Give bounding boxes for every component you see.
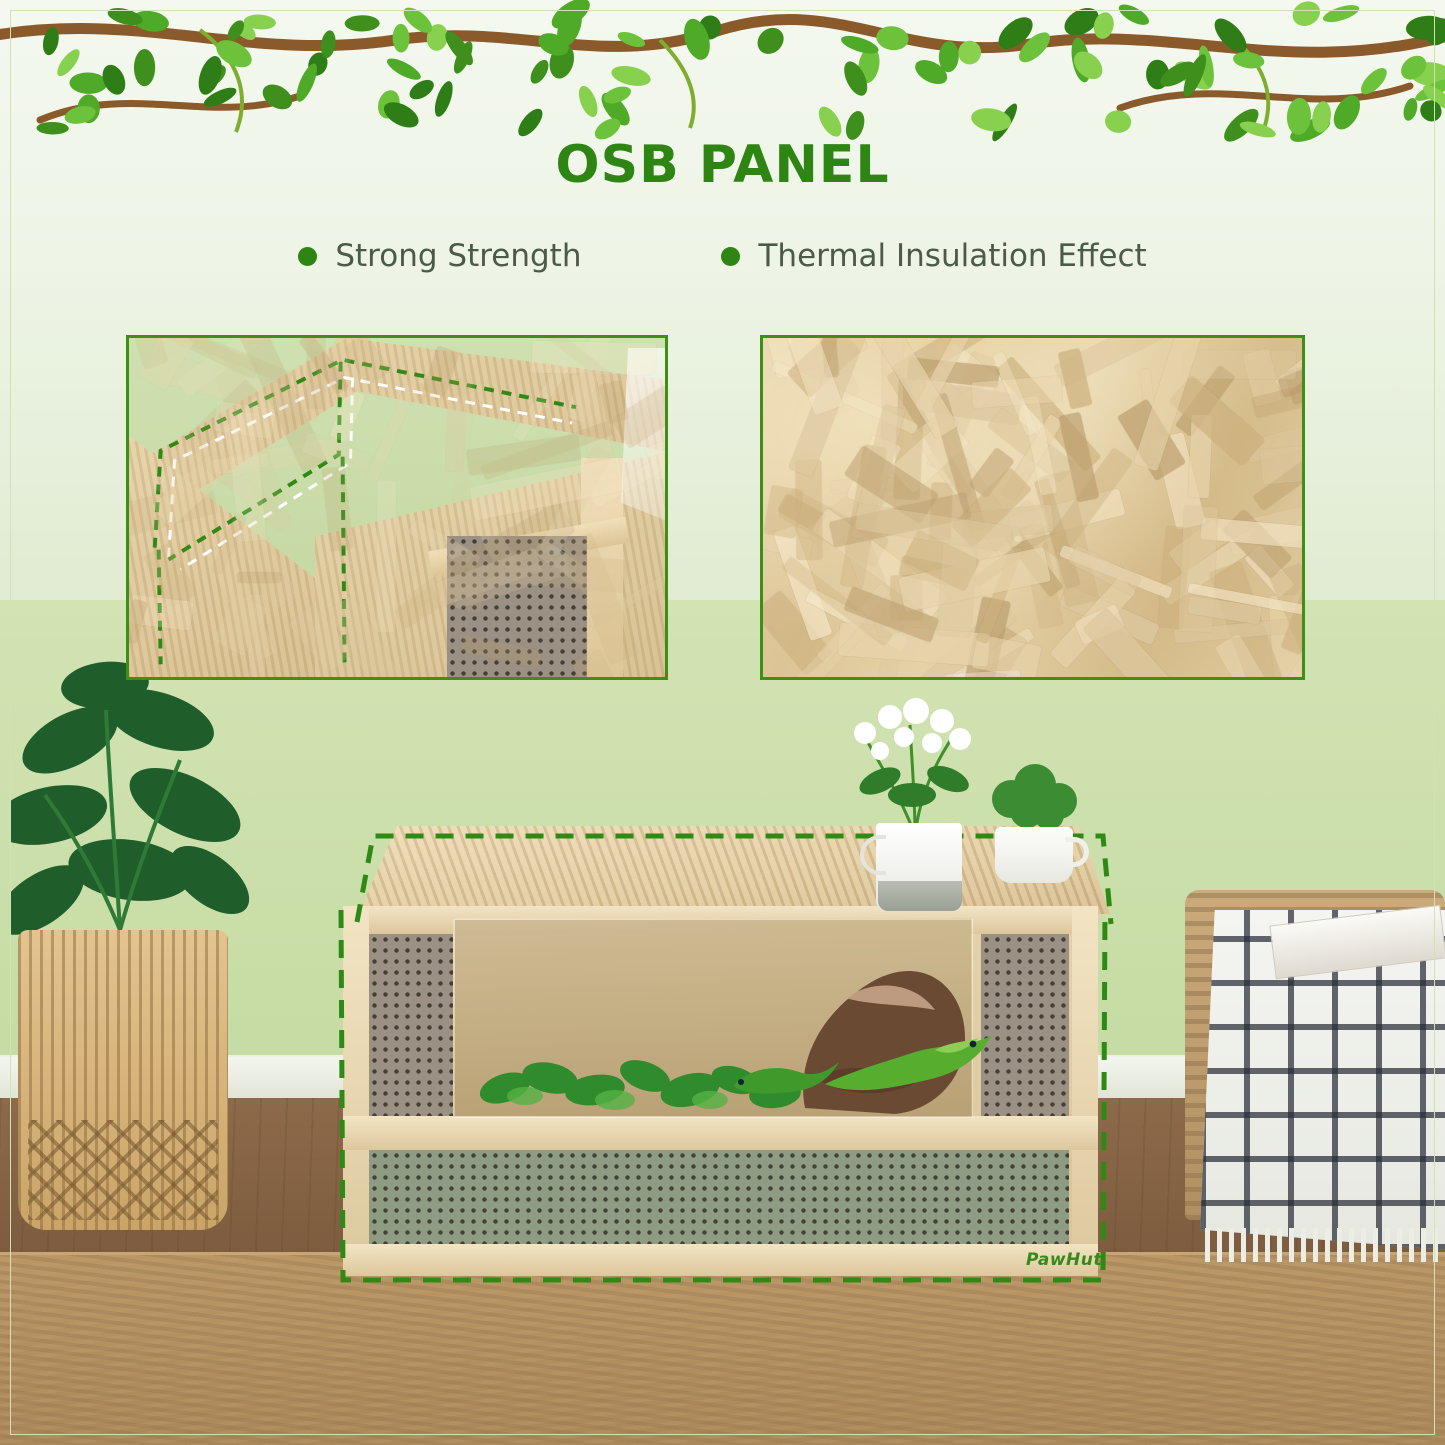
osb-chip-texture: [763, 338, 1302, 677]
leaf-icon: [843, 109, 868, 142]
leaf-icon: [406, 76, 437, 103]
feature-item-insulation: Thermal Insulation Effect: [721, 238, 1146, 274]
bullet-dot-icon: [721, 247, 740, 266]
leaf-icon: [1288, 0, 1324, 31]
vine-decoration: [0, 0, 1445, 180]
detail-photo-osb-texture: [760, 335, 1305, 680]
osb-chip: [937, 537, 978, 638]
osb-chip: [1184, 350, 1296, 380]
leaf-icon: [1116, 0, 1152, 28]
small-green-plant-pot: [975, 755, 1095, 865]
product-infographic: OSB PANEL Strong Strength Thermal Insula…: [0, 0, 1445, 1445]
planter-base-band: [878, 881, 962, 911]
feature-label: Strong Strength: [335, 238, 581, 274]
leaf-icon: [1321, 2, 1361, 26]
leaf-icon: [814, 103, 846, 140]
leaf-icon: [1104, 109, 1133, 135]
wooden-reptile-terrarium[interactable]: PawHut: [325, 826, 1120, 1286]
feature-list: Strong Strength Thermal Insulation Effec…: [0, 238, 1445, 274]
lifestyle-scene: PawHut: [0, 600, 1445, 1445]
leaf-icon: [36, 122, 68, 135]
feature-label: Thermal Insulation Effect: [758, 238, 1146, 274]
leaf-icon: [431, 79, 456, 119]
leaf-icon: [134, 49, 155, 86]
leaf-icon: [1405, 15, 1445, 41]
potted-plant-left: [10, 600, 280, 1280]
leaf-icon: [514, 105, 547, 140]
brand-watermark: PawHut: [1026, 1250, 1102, 1270]
leaf-icon: [752, 23, 789, 60]
leaf-icon: [345, 15, 380, 32]
detail-photo-corner-joint: [126, 335, 668, 680]
blanket-fringe: [1205, 1228, 1445, 1262]
leaf-icon: [384, 54, 423, 83]
leaf-icon: [575, 83, 601, 119]
leaf-icon: [258, 79, 297, 114]
leaf-icon: [392, 24, 409, 53]
leaf-icon: [69, 72, 107, 94]
bullet-dot-icon: [298, 247, 317, 266]
leaf-icon: [609, 63, 652, 90]
leaf-icon: [527, 57, 552, 87]
leaf-icon: [292, 61, 321, 104]
edge-highlight-dashed: [129, 338, 665, 679]
white-mug-planter: [995, 827, 1073, 883]
plant-stand-pattern: [28, 1120, 218, 1220]
feature-item-strength: Strong Strength: [298, 238, 581, 274]
mug-handle: [1065, 837, 1089, 867]
product-highlight-dashed: [313, 814, 1133, 1304]
